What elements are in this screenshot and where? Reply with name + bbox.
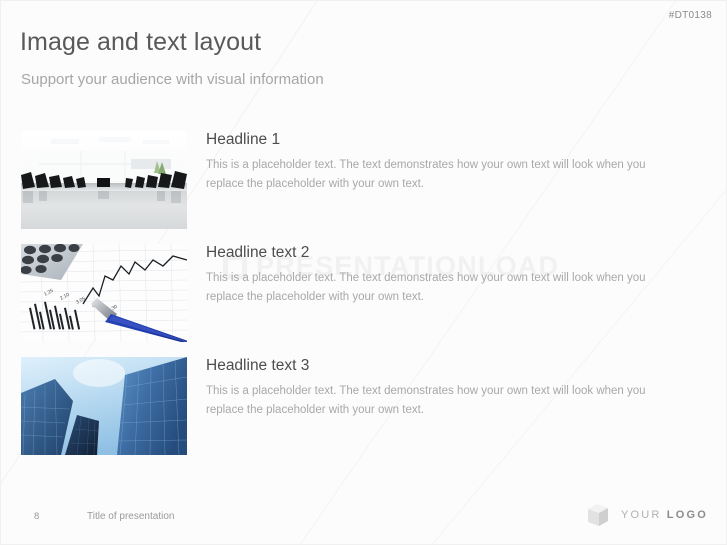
row-text-block: Headline 1 This is a placeholder text. T… [206, 131, 681, 193]
row-body-text: This is a placeholder text. The text dem… [206, 382, 678, 419]
logo-word-logo: LOGO [667, 509, 708, 521]
content-row: Headline 1 This is a placeholder text. T… [21, 131, 711, 229]
conference-room-photo[interactable] [21, 131, 187, 229]
row-headline: Headline 1 [206, 131, 681, 148]
row-body-text: This is a placeholder text. The text dem… [206, 269, 678, 306]
slide-footer: 8 Title of presentation YOUR LOGO [1, 496, 727, 544]
skyscrapers-photo[interactable] [21, 357, 187, 455]
page-number: 8 [34, 511, 39, 522]
financial-charts-photo[interactable]: 1.25 2.10 3.05 4.60 5.30 [21, 244, 187, 342]
row-headline: Headline text 3 [206, 357, 681, 374]
row-headline: Headline text 2 [206, 244, 681, 261]
row-text-block: Headline text 2 This is a placeholder te… [206, 244, 681, 306]
content-row: Headline text 3 This is a placeholder te… [21, 357, 711, 455]
slide-canvas: PRESENTATIONLOAD #DT0138 Image and text … [0, 0, 727, 545]
company-logo[interactable]: YOUR LOGO [585, 502, 708, 528]
content-row: 1.25 2.10 3.05 4.60 5.30 [21, 244, 711, 342]
row-body-text: This is a placeholder text. The text dem… [206, 156, 678, 193]
logo-text: YOUR LOGO [621, 509, 708, 521]
logo-word-your: YOUR [621, 509, 662, 521]
page-title: Image and text layout [20, 28, 261, 57]
document-code: #DT0138 [669, 10, 712, 21]
cube-icon [585, 502, 611, 528]
row-text-block: Headline text 3 This is a placeholder te… [206, 357, 681, 419]
footer-presentation-title: Title of presentation [87, 511, 174, 522]
page-subtitle: Support your audience with visual inform… [21, 71, 324, 88]
